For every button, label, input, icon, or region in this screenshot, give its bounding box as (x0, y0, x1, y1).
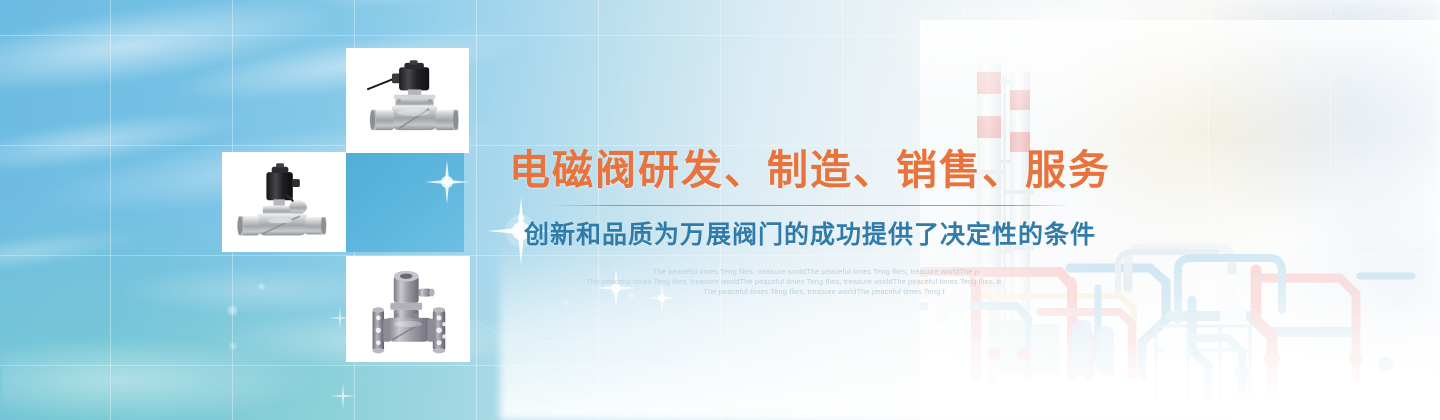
microcopy-line-2: The peaceful times Teng flies, treasure … (484, 277, 1104, 287)
product-card-2[interactable] (222, 152, 346, 252)
banner-copy: 电磁阀研发、制造、销售、服务 创新和品质为万展阀门的成功提供了决定性的条件 Th… (500, 148, 1120, 297)
banner-subheadline: 创新和品质为万展阀门的成功提供了决定性的条件 (500, 215, 1120, 251)
hero-banner: 电磁阀研发、制造、销售、服务 创新和品质为万展阀门的成功提供了决定性的条件 Th… (0, 0, 1440, 420)
solenoid-valve-threaded-black-coil-image (352, 54, 463, 147)
microcopy-line-3: The peaceful times Teng flies, treasure … (514, 287, 1134, 297)
banner-microcopy: The peaceful times Teng flies, treasure … (500, 267, 1120, 297)
product-card-1[interactable] (346, 48, 469, 153)
accent-tile-center (346, 152, 464, 252)
solenoid-valve-angled-black-coil-image (228, 158, 340, 246)
solenoid-valve-flanged-image (352, 262, 464, 356)
banner-headline: 电磁阀研发、制造、销售、服务 (500, 148, 1120, 194)
microcopy-line-1: The peaceful times Teng flies, treasure … (506, 267, 1126, 277)
headline-divider (550, 205, 1070, 206)
product-card-3[interactable] (346, 256, 470, 362)
